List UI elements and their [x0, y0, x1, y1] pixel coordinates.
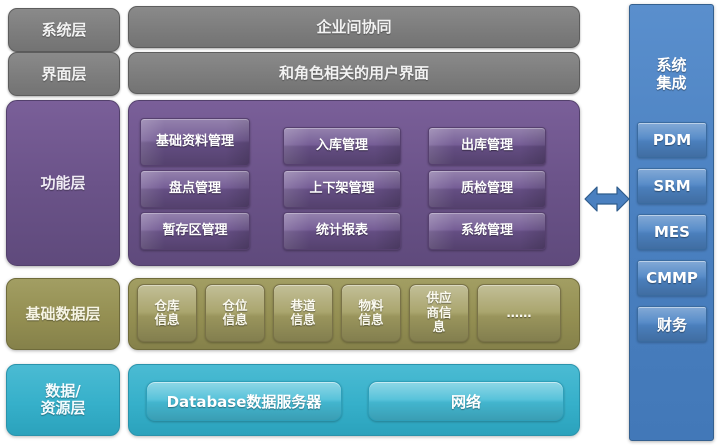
function-module-stocktaking[interactable]: 盘点管理: [140, 170, 250, 208]
function-module-outbound[interactable]: 出库管理: [428, 127, 546, 165]
architecture-diagram: 系统层 企业间协同 界面层 和角色相关的用户界面 功能层 基础资料管理 盘点管理…: [0, 0, 720, 445]
base-data-item-material[interactable]: 物料 信息: [341, 284, 401, 342]
function-module-system-admin[interactable]: 系统管理: [428, 212, 546, 250]
layer-label-system: 系统层: [8, 8, 120, 52]
base-data-item-more[interactable]: ……: [477, 284, 561, 342]
base-data-item-warehouse[interactable]: 仓库 信息: [137, 284, 197, 342]
integration-system-cmmp[interactable]: CMMP: [637, 260, 707, 296]
function-module-reports[interactable]: 统计报表: [283, 212, 401, 250]
layer-content-interface: 和角色相关的用户界面: [128, 52, 580, 94]
integration-system-pdm[interactable]: PDM: [637, 122, 707, 158]
data-resource-item-network[interactable]: 网络: [368, 381, 564, 421]
function-module-shelving[interactable]: 上下架管理: [283, 170, 401, 208]
integration-system-finance[interactable]: 财务: [637, 306, 707, 342]
layer-content-system: 企业间协同: [128, 6, 580, 48]
layer-label-interface: 界面层: [8, 52, 120, 96]
integration-column-title: 系统 集成: [630, 57, 713, 92]
data-resource-item-database-server[interactable]: Database数据服务器: [146, 381, 342, 421]
bidirectional-arrow-icon: [583, 182, 631, 216]
integration-system-srm[interactable]: SRM: [637, 168, 707, 204]
layer-label-data-resource: 数据/ 资源层: [6, 364, 120, 436]
layer-label-function: 功能层: [6, 100, 120, 266]
base-data-item-supplier[interactable]: 供应 商信 息: [409, 284, 469, 342]
base-data-item-location[interactable]: 仓位 信息: [205, 284, 265, 342]
layer-label-base-data: 基础数据层: [6, 278, 120, 350]
function-module-temp-storage[interactable]: 暂存区管理: [140, 212, 250, 250]
function-module-basic-data[interactable]: 基础资料管理: [140, 118, 250, 166]
integration-system-mes[interactable]: MES: [637, 214, 707, 250]
base-data-item-aisle[interactable]: 巷道 信息: [273, 284, 333, 342]
function-module-inbound[interactable]: 入库管理: [283, 127, 401, 165]
function-module-quality-check[interactable]: 质检管理: [428, 170, 546, 208]
